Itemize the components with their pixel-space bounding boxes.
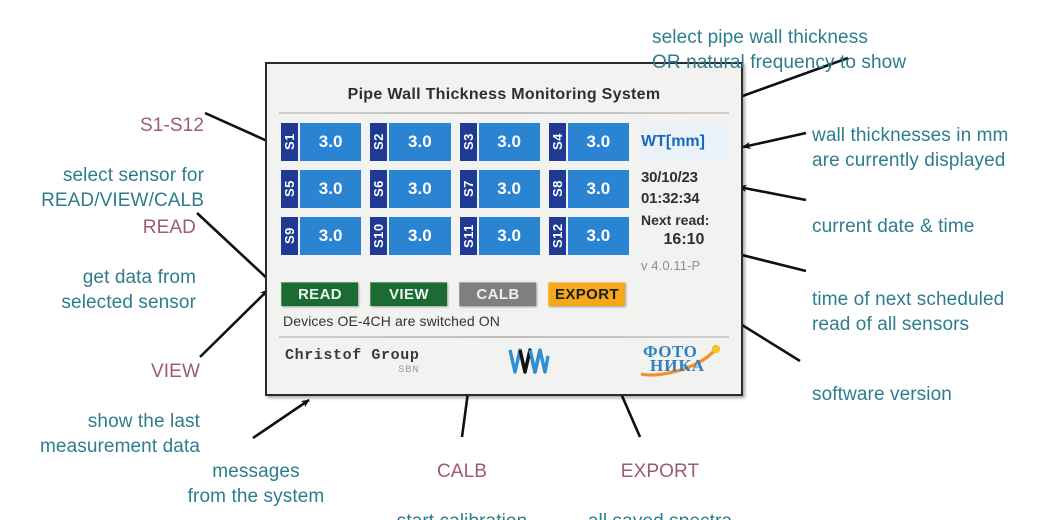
sensor-value: 3.0 xyxy=(479,170,540,208)
export-button[interactable]: EXPORT xyxy=(548,282,625,306)
annotation-read: READ get data from selected sensor xyxy=(8,190,196,315)
sensor-value: 3.0 xyxy=(568,170,629,208)
sensor-id-label: S5 xyxy=(281,170,298,208)
sensor-value: 3.0 xyxy=(479,217,540,255)
sensor-cell-s5[interactable]: S5 3.0 xyxy=(281,170,361,208)
annotation-export-title: EXPORT xyxy=(562,459,758,484)
next-read-time: 16:10 xyxy=(641,230,727,250)
annotation-view-title: VIEW xyxy=(0,359,200,384)
sensor-grid: S1 3.0 S2 3.0 S3 3.0 S4 3.0 xyxy=(281,123,629,273)
sensor-value: 3.0 xyxy=(568,123,629,161)
sensor-id-label: S3 xyxy=(460,123,477,161)
annotation-next-read: time of next scheduled read of all senso… xyxy=(812,262,1039,337)
annotation-version: software version xyxy=(812,357,1012,407)
panel-footer: Christof Group SBN xyxy=(275,338,733,378)
partner-logo: ФОТО НИКА xyxy=(639,344,723,378)
wave-logo-wrap xyxy=(419,346,639,376)
info-column: WT[mm] 30/10/23 01:32:34 Next read: 16:1… xyxy=(635,123,727,273)
brand-logo: Christof Group SBN xyxy=(285,347,419,376)
page-title: Pipe Wall Thickness Monitoring System xyxy=(275,70,733,104)
sensor-value: 3.0 xyxy=(300,123,361,161)
sensor-cell-s2[interactable]: S2 3.0 xyxy=(370,123,450,161)
annotation-sensors-title: S1-S12 xyxy=(8,113,204,138)
annotation-calb-body: start calibration xyxy=(397,511,528,520)
sensor-cell-s1[interactable]: S1 3.0 xyxy=(281,123,361,161)
read-button[interactable]: READ xyxy=(281,282,358,306)
annotation-wall-thickness: wall thicknesses in mm are currently dis… xyxy=(812,98,1039,173)
annotation-wall-thickness-body: wall thicknesses in mm are currently dis… xyxy=(812,125,1008,171)
status-message: Devices OE-4CH are switched ON xyxy=(275,306,733,329)
sensor-id-label: S7 xyxy=(460,170,477,208)
sensor-value: 3.0 xyxy=(479,123,540,161)
calb-button[interactable]: CALB xyxy=(459,282,536,306)
sensor-id-label: S8 xyxy=(549,170,566,208)
sensor-id-label: S2 xyxy=(370,123,387,161)
sensor-value: 3.0 xyxy=(389,217,450,255)
software-version: v 4.0.11-P xyxy=(641,258,727,273)
partner-name-line2: НИКА xyxy=(643,359,705,373)
screenshot-root: Pipe Wall Thickness Monitoring System S1… xyxy=(0,0,1039,520)
annotation-messages: messages from the system xyxy=(150,434,362,509)
sensor-id-label: S6 xyxy=(370,170,387,208)
sensor-cell-s10[interactable]: S10 3.0 xyxy=(370,217,450,255)
annotation-calb: CALB start calibration xyxy=(366,434,558,520)
unit-toggle-button[interactable]: WT[mm] xyxy=(641,123,727,161)
sensor-value: 3.0 xyxy=(300,217,361,255)
sensor-cell-s3[interactable]: S3 3.0 xyxy=(460,123,540,161)
sensor-value: 3.0 xyxy=(300,170,361,208)
action-button-row: READ VIEW CALB EXPORT xyxy=(275,273,733,306)
sensor-value: 3.0 xyxy=(389,123,450,161)
annotation-unit-toggle: select pipe wall thickness OR natural fr… xyxy=(652,0,1038,75)
current-time: 01:32:34 xyxy=(641,188,727,209)
panel-inner: Pipe Wall Thickness Monitoring System S1… xyxy=(275,70,733,388)
panel-body: S1 3.0 S2 3.0 S3 3.0 S4 3.0 xyxy=(275,114,733,273)
sensor-cell-s6[interactable]: S6 3.0 xyxy=(370,170,450,208)
device-panel: Pipe Wall Thickness Monitoring System S1… xyxy=(265,62,743,396)
annotation-calb-title: CALB xyxy=(366,459,558,484)
sensor-value: 3.0 xyxy=(389,170,450,208)
sensor-cell-s4[interactable]: S4 3.0 xyxy=(549,123,629,161)
sensor-id-label: S12 xyxy=(549,217,566,255)
sensor-cell-s9[interactable]: S9 3.0 xyxy=(281,217,361,255)
sensor-cell-s7[interactable]: S7 3.0 xyxy=(460,170,540,208)
brand-subtitle: SBN xyxy=(285,365,419,376)
sensor-id-label: S1 xyxy=(281,123,298,161)
next-read-label: Next read: xyxy=(641,211,727,230)
brand-name: Christof Group xyxy=(285,347,419,364)
annotation-version-body: software version xyxy=(812,384,952,405)
sensor-value: 3.0 xyxy=(568,217,629,255)
annotation-export: EXPORT all saved spectra to USB flash xyxy=(562,434,758,520)
view-button[interactable]: VIEW xyxy=(370,282,447,306)
wave-logo-icon xyxy=(506,346,552,376)
sensor-id-label: S11 xyxy=(460,217,477,255)
annotation-read-body: get data from selected sensor xyxy=(61,267,196,313)
annotation-datetime: current date & time xyxy=(812,189,1036,239)
annotation-export-body: all saved spectra to USB flash xyxy=(588,511,732,520)
annotation-unit-toggle-body: select pipe wall thickness OR natural fr… xyxy=(652,27,906,73)
sensor-cell-s11[interactable]: S11 3.0 xyxy=(460,217,540,255)
current-date: 30/10/23 xyxy=(641,167,727,188)
sensor-id-label: S9 xyxy=(281,217,298,255)
sensor-id-label: S10 xyxy=(370,217,387,255)
sensor-id-label: S4 xyxy=(549,123,566,161)
annotation-read-title: READ xyxy=(8,215,196,240)
sensor-cell-s8[interactable]: S8 3.0 xyxy=(549,170,629,208)
annotation-next-read-body: time of next scheduled read of all senso… xyxy=(812,289,1004,335)
sensor-cell-s12[interactable]: S12 3.0 xyxy=(549,217,629,255)
annotation-messages-body: messages from the system xyxy=(188,461,325,507)
annotation-datetime-body: current date & time xyxy=(812,216,974,237)
